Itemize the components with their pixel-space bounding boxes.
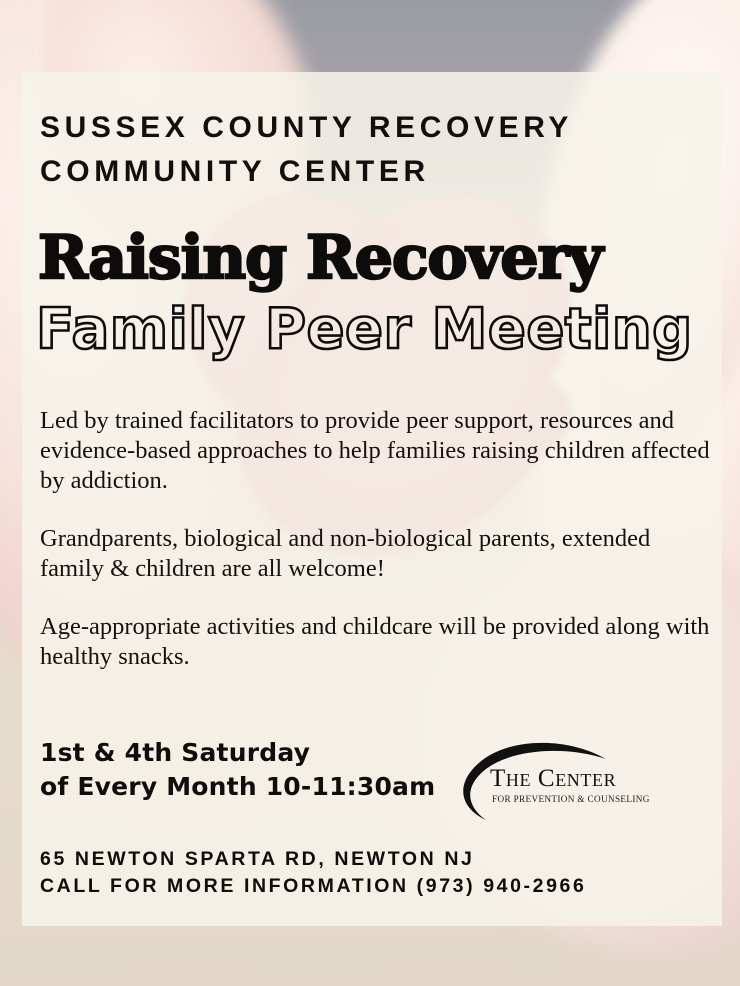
logo-name: The Center: [490, 765, 616, 793]
contact-footer: 65 Newton Sparta Rd, Newton NJ Call for …: [40, 846, 586, 900]
footer-address: 65 Newton Sparta Rd, Newton NJ: [40, 846, 586, 873]
organization-name: Sussex County Recovery Community Center: [40, 106, 680, 194]
page-subtitle: Family Peer Meeting: [36, 300, 693, 360]
schedule-days: 1st & 4th Saturday: [40, 736, 435, 770]
description-paragraph: Led by trained facilitators to provide p…: [40, 406, 712, 496]
flyer-poster: Sussex County Recovery Community Center …: [0, 0, 740, 986]
description-paragraph: Grandparents, biological and non-biologi…: [40, 524, 712, 584]
schedule-block: 1st & 4th Saturday of Every Month 10-11:…: [40, 736, 435, 804]
footer-phone: Call for more information (973) 940-2966: [40, 873, 586, 900]
page-title: Raising Recovery: [38, 227, 602, 289]
logo-tagline: For Prevention & Counseling: [492, 794, 650, 804]
schedule-time: of Every Month 10-11:30am: [40, 770, 435, 804]
description-paragraph: Age-appropriate activities and childcare…: [40, 612, 712, 672]
description-block: Led by trained facilitators to provide p…: [40, 406, 712, 672]
the-center-logo: The Center For Prevention & Counseling: [446, 732, 656, 822]
poster-content: Sussex County Recovery Community Center …: [22, 72, 722, 926]
